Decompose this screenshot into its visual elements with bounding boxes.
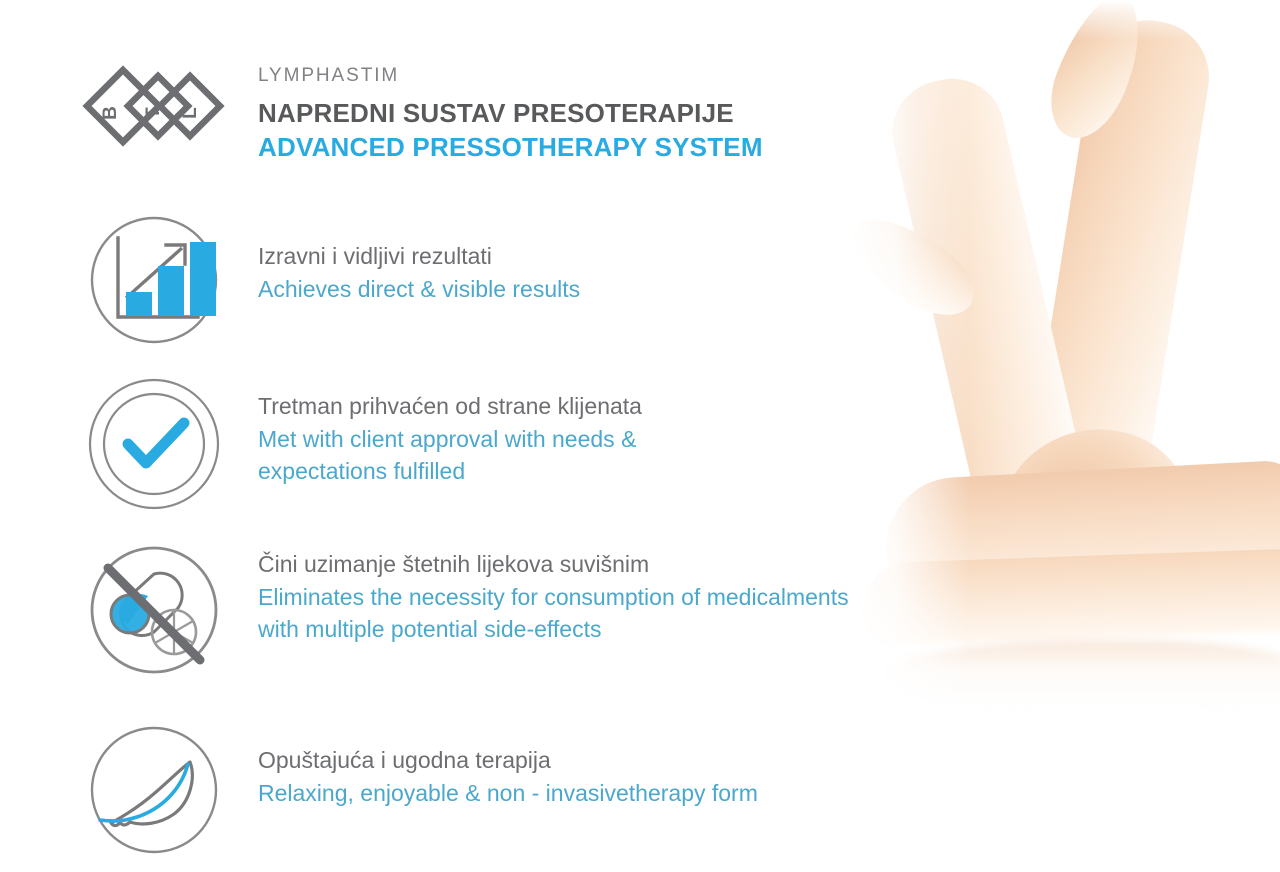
header-text: LYMPHASTIM NAPREDNI SUSTAV PRESOTERAPIJE… [258,58,763,165]
feature-row: Opuštajuća i ugodna terapija Relaxing, e… [78,714,758,866]
content-column: B T L LYMPHASTIM NAPREDNI SUSTAV PRESOTE… [0,0,1060,872]
feature-row: Čini uzimanje štetnih lijekova suvišnim … [78,534,849,686]
checkmark-circle-icon [78,368,230,520]
no-medication-icon [78,534,230,686]
feature-line-croatian: Tretman prihvaćen od strane klijenata [258,390,642,423]
feature-line-croatian: Opuštajuća i ugodna terapija [258,744,758,777]
feature-row: Tretman prihvaćen od strane klijenata Me… [78,368,642,520]
btl-letter-b: B [100,106,121,120]
title-croatian: NAPREDNI SUSTAV PRESOTERAPIJE [258,96,763,130]
title-english: ADVANCED PRESSOTHERAPY SYSTEM [258,130,763,164]
feature-line-english: Relaxing, enjoyable & non - invasivether… [258,777,758,810]
feature-text: Tretman prihvaćen od strane klijenata Me… [258,368,642,488]
feature-text: Čini uzimanje štetnih lijekova suvišnim … [258,534,849,646]
feature-line-english: Achieves direct & visible results [258,273,580,306]
feature-text: Opuštajuća i ugodna terapija Relaxing, e… [258,714,758,809]
btl-letter-l: L [180,107,201,119]
feature-text: Izravni i vidljivi rezultati Achieves di… [258,204,580,305]
feature-line-croatian: Izravni i vidljivi rezultati [258,240,580,273]
feature-line-english: Met with client approval with needs & [258,423,642,456]
feature-line-croatian: Čini uzimanje štetnih lijekova suvišnim [258,548,849,581]
growth-chart-icon [78,204,230,356]
feature-line-english: Eliminates the necessity for consumption… [258,581,849,614]
feather-icon [78,714,230,866]
header-block: B T L LYMPHASTIM NAPREDNI SUSTAV PRESOTE… [78,58,763,165]
brand-label: LYMPHASTIM [258,66,763,87]
feature-line-english-2: with multiple potential side-effects [258,613,849,646]
btl-letter-t: T [143,107,164,119]
btl-logo-icon: B T L [78,62,230,150]
feature-line-english-2: expectations fulfilled [258,455,642,488]
feature-row: Izravni i vidljivi rezultati Achieves di… [78,204,580,356]
